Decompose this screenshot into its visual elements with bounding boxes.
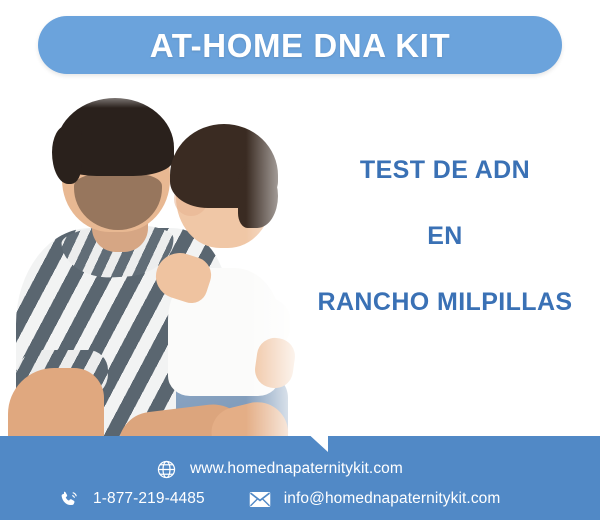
man-sideburn-icon xyxy=(52,126,82,184)
poster: AT-HOME DNA KIT xyxy=(0,0,600,520)
photo-stage xyxy=(0,82,330,457)
footer-website-text: www.homednapaternitykit.com xyxy=(190,460,403,478)
headline-block: TEST DE ADN EN RANCHO MILPILLAS xyxy=(300,158,590,315)
photo-edge-fade-top xyxy=(0,82,330,108)
family-photo xyxy=(0,82,330,457)
footer-phone-item[interactable]: 1-877-219-4485 xyxy=(58,488,205,510)
footer-email-item[interactable]: info@homednapaternitykit.com xyxy=(249,488,501,510)
footer-contact-row: 1-877-219-4485 info@homednapaternitykit.… xyxy=(58,488,500,510)
footer-website-row: www.homednapaternitykit.com xyxy=(155,458,403,480)
footer-website-item[interactable]: www.homednapaternitykit.com xyxy=(155,458,403,480)
header-banner: AT-HOME DNA KIT xyxy=(38,16,562,74)
footer-phone-text: 1-877-219-4485 xyxy=(93,490,205,508)
phone-icon xyxy=(58,488,80,510)
page-title: AT-HOME DNA KIT xyxy=(150,29,450,62)
headline-line-1: TEST DE ADN xyxy=(300,158,590,183)
headline-line-3: RANCHO MILPILLAS xyxy=(300,290,590,315)
headline-line-2: EN xyxy=(300,224,590,249)
globe-icon xyxy=(155,458,177,480)
footer-email-text: info@homednapaternitykit.com xyxy=(284,490,501,508)
envelope-icon xyxy=(249,488,271,510)
